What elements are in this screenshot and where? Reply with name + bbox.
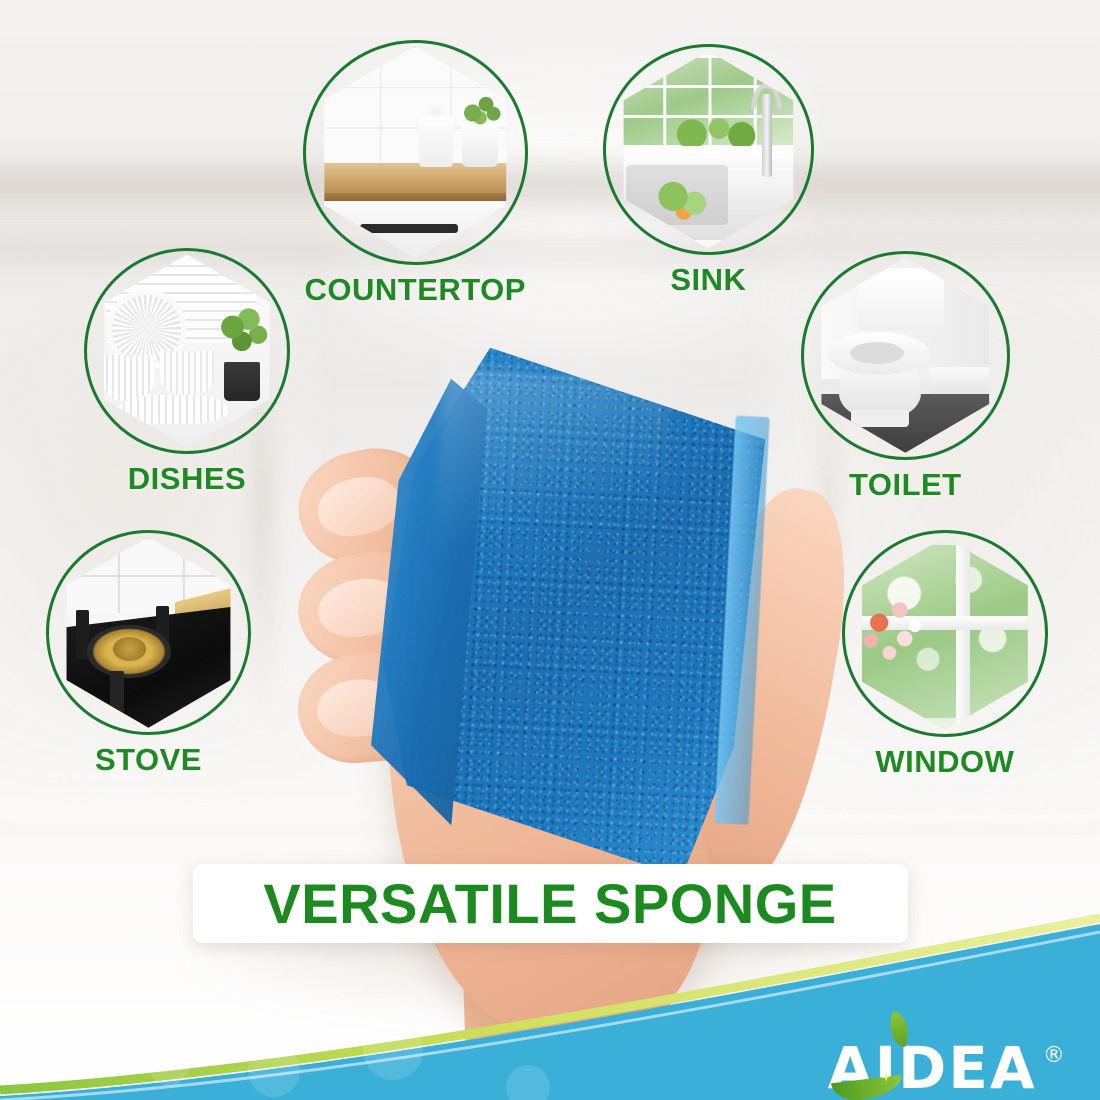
badge-ring	[603, 44, 814, 255]
badge-ring	[46, 530, 251, 735]
use-case-dishes[interactable]: DISHES	[84, 248, 291, 498]
dishes-photo	[91, 255, 284, 448]
brand-wordmark-group: AIDEA	[828, 1039, 1037, 1097]
hero-hand-holding-sponge	[275, 341, 847, 1067]
countertop-photo	[310, 47, 522, 259]
badge-ring	[303, 40, 529, 266]
sponge-highlight	[434, 367, 670, 566]
use-case-toilet[interactable]: TOILET	[801, 251, 1010, 503]
badge-ring	[801, 251, 1010, 460]
use-case-label: WINDOW	[842, 744, 1049, 780]
use-case-sink[interactable]: SINK	[603, 44, 814, 298]
registered-trademark-icon: ®	[1043, 1043, 1065, 1068]
badge-ring	[84, 248, 291, 455]
use-case-stove[interactable]: STOVE	[46, 530, 251, 778]
product-sponge	[364, 331, 770, 902]
infographic-canvas: COUNTERTOP SINK	[0, 0, 1100, 1100]
stove-photo	[53, 537, 244, 728]
use-case-window[interactable]: WINDOW	[842, 530, 1049, 780]
use-case-label: DISHES	[84, 461, 291, 497]
use-case-label: TOILET	[801, 467, 1010, 503]
window-photo	[849, 537, 1042, 730]
sink-photo	[610, 51, 807, 248]
use-case-label: STOVE	[46, 742, 251, 778]
badge-ring	[842, 530, 1049, 737]
brand-logo[interactable]: AIDEA ®	[828, 1039, 1065, 1097]
background-shelf-upper	[0, 154, 1100, 226]
use-case-label: SINK	[603, 262, 814, 298]
use-case-label: COUNTERTOP	[303, 272, 529, 308]
product-title-banner: VERSATILE SPONGE	[193, 864, 908, 943]
page-title: VERSATILE SPONGE	[263, 871, 836, 936]
use-case-countertop[interactable]: COUNTERTOP	[303, 40, 529, 309]
toilet-photo	[808, 258, 1003, 453]
